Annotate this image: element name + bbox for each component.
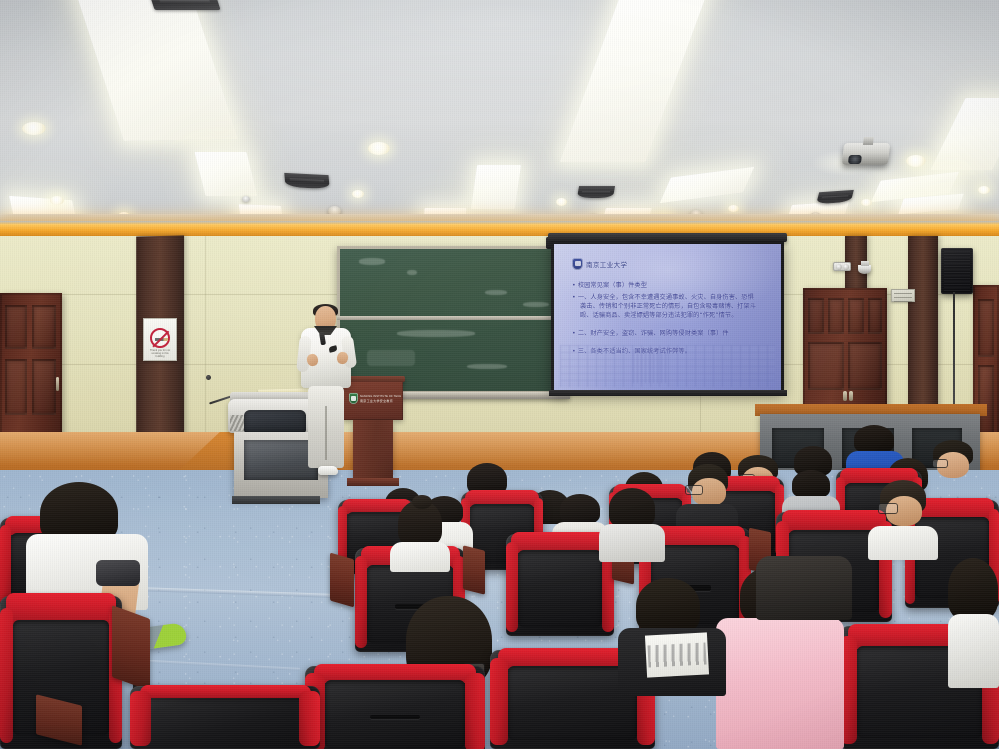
emergency-light-bulb-icon (836, 264, 842, 270)
ceiling-downlight (352, 190, 364, 198)
chalkboard-divider-rail (337, 316, 565, 320)
lectern-base (232, 496, 320, 504)
ceiling-downlight (861, 199, 872, 206)
slide-bullet: • 一、人身安全，包含不幸遭遇交通事故、火灾、自身伤害、恐惧 (572, 294, 754, 302)
university-shield-icon (572, 258, 583, 270)
person-hair (636, 578, 700, 634)
door-handle[interactable] (843, 391, 847, 401)
eyeglasses (879, 504, 897, 513)
presenter-shoe (318, 466, 338, 475)
ceiling-downlight (50, 196, 64, 205)
presentation-slide: 南京工业大学 • 校园常见案（事）件类型 • 一、人身安全，包含不幸遭遇交通事故… (554, 244, 781, 390)
audience-member-shorts (96, 560, 140, 586)
chalk-residue (367, 350, 415, 366)
wall-speaker-right (941, 248, 973, 294)
cove-light-strip (0, 221, 999, 236)
seat-cushion (518, 550, 602, 627)
auditorium-seat[interactable] (506, 534, 614, 636)
emergency-light-bulb-icon (843, 264, 849, 270)
seat-tablet-arm[interactable] (463, 545, 485, 594)
air-vent (577, 186, 615, 198)
person-hair-bun (412, 495, 432, 509)
ceiling-panel-light (560, 0, 719, 162)
chalkboard (337, 246, 565, 394)
presenter (296, 306, 356, 484)
smoke-detector (242, 196, 250, 202)
podium-emblem-english: NANJING INSTITUTE OF TECH (360, 395, 401, 398)
chalk-residue (467, 364, 507, 369)
door-panel (978, 365, 994, 435)
vest-stripe-pattern (647, 642, 706, 667)
seat-bolster (355, 556, 367, 648)
audience-member-dark-jacket (756, 556, 852, 620)
door-panel (868, 298, 882, 334)
person-hair (792, 470, 830, 498)
audience-member (599, 488, 665, 562)
chalk-residue (397, 330, 475, 337)
person-hair (560, 494, 600, 524)
ceiling-panel-light (471, 165, 521, 209)
seat-bolster (130, 691, 151, 746)
door-panel (978, 299, 994, 357)
seat-tablet-arm[interactable] (330, 553, 354, 608)
door-panel (848, 298, 864, 334)
door-panel (32, 305, 56, 349)
eyeglasses (686, 486, 702, 494)
projector-lens-icon (848, 155, 862, 164)
door-panel (808, 342, 844, 390)
presenter-leg-seam (325, 406, 327, 460)
seat-bolster (490, 658, 508, 745)
ceiling-panel-light (195, 152, 258, 196)
chalk-residue (407, 270, 417, 275)
seat-headrest (140, 685, 311, 698)
ceiling-downlight (368, 142, 390, 155)
person-shoulders (716, 618, 844, 749)
ceiling-panel-light (660, 167, 755, 204)
projector-mount (863, 137, 874, 145)
slide-background-building-graphic (560, 345, 775, 387)
lecture-hall-photo: Thank you for not smoking in this buildi… (0, 0, 999, 749)
seat-bolster (299, 691, 320, 746)
person-shoulders (599, 524, 665, 562)
ceiling-panel-light (69, 0, 238, 141)
door-panel (5, 305, 27, 349)
dome-security-camera (858, 265, 871, 274)
seat-tablet-arm[interactable] (112, 605, 150, 691)
air-vent (284, 173, 329, 189)
wall-pilaster-right (908, 236, 938, 432)
door-panel (808, 298, 824, 334)
ceiling-downlight (22, 122, 46, 135)
ceiling-panel-light (930, 98, 999, 170)
wall-info-plate (891, 289, 915, 302)
chalk-residue (523, 302, 549, 307)
air-vent (149, 0, 220, 10)
slide-bullet: • 二、财产安全，盗窃、诈骗、网购等侵财类案（事）件 (572, 330, 729, 338)
chalk-residue (485, 290, 507, 295)
audience-member-right-edge (948, 558, 999, 688)
slide-bullet-cont: 殴、话骗商品、卖淫嫖娼等部分违法犯罪的“作死”情节。 (580, 312, 738, 320)
ceiling-downlight (978, 186, 990, 194)
no-smoking-icon (150, 328, 170, 348)
auditorium-seat[interactable] (305, 666, 485, 749)
podium-column (353, 420, 393, 478)
podium-emblem-chinese: 南京工业大学安全教育 (360, 399, 401, 403)
slide-university-logo: 南京工业大学 (572, 258, 627, 270)
screen-bottom-bar (549, 390, 787, 396)
slide-bullet-cont: 袭击、传销和个别非正常死亡的情形，自包含吸毒赌博、打架斗 (580, 303, 756, 311)
eyeglasses (933, 460, 947, 467)
door-handle[interactable] (849, 391, 853, 401)
no-smoking-sign: Thank you for not smoking in this buildi… (143, 318, 177, 361)
door-panel (848, 342, 882, 390)
ceiling-downlight (556, 198, 567, 206)
person-hair (609, 488, 655, 528)
emergency-light (833, 262, 851, 271)
person-shoulders (868, 526, 938, 560)
door-panel (32, 359, 56, 415)
seat-bolster (0, 608, 13, 743)
door-panel (828, 298, 844, 334)
person-shoulders (948, 614, 999, 688)
person-hair (854, 425, 894, 453)
door-handle[interactable] (56, 377, 59, 391)
ceiling-projector (842, 143, 890, 165)
slide-bullet: • 校园常见案（事）件类型 (572, 282, 647, 290)
door-panel (5, 359, 27, 415)
ceiling-downlight (728, 205, 739, 212)
seat-bolster (465, 673, 485, 749)
slide-university-name: 南京工业大学 (586, 259, 627, 269)
no-smoking-sign-caption: Thank you for not smoking in this buildi… (147, 350, 173, 359)
seat-slot (370, 715, 420, 720)
mic-head-icon (206, 375, 211, 380)
person-shoulders (390, 542, 450, 572)
podium-university-emblem: NANJING INSTITUTE OF TECH 南京工业大学安全教育 (349, 393, 401, 404)
person-hair (948, 558, 998, 620)
door-right-double[interactable] (803, 288, 887, 414)
projection-screen: 南京工业大学 • 校园常见案（事）件类型 • 一、人身安全，包含不幸遭遇交通事故… (551, 241, 784, 393)
gooseneck-microphone (208, 372, 242, 394)
camera-mount (861, 261, 869, 266)
ceiling-downlight (906, 155, 926, 167)
audience-member-glasses (868, 480, 938, 560)
auditorium-seat[interactable] (130, 686, 320, 749)
speaker-cable (953, 292, 955, 414)
lectern-vent (230, 415, 244, 431)
chalk-residue (359, 258, 385, 265)
audience-member-bun (390, 498, 450, 572)
